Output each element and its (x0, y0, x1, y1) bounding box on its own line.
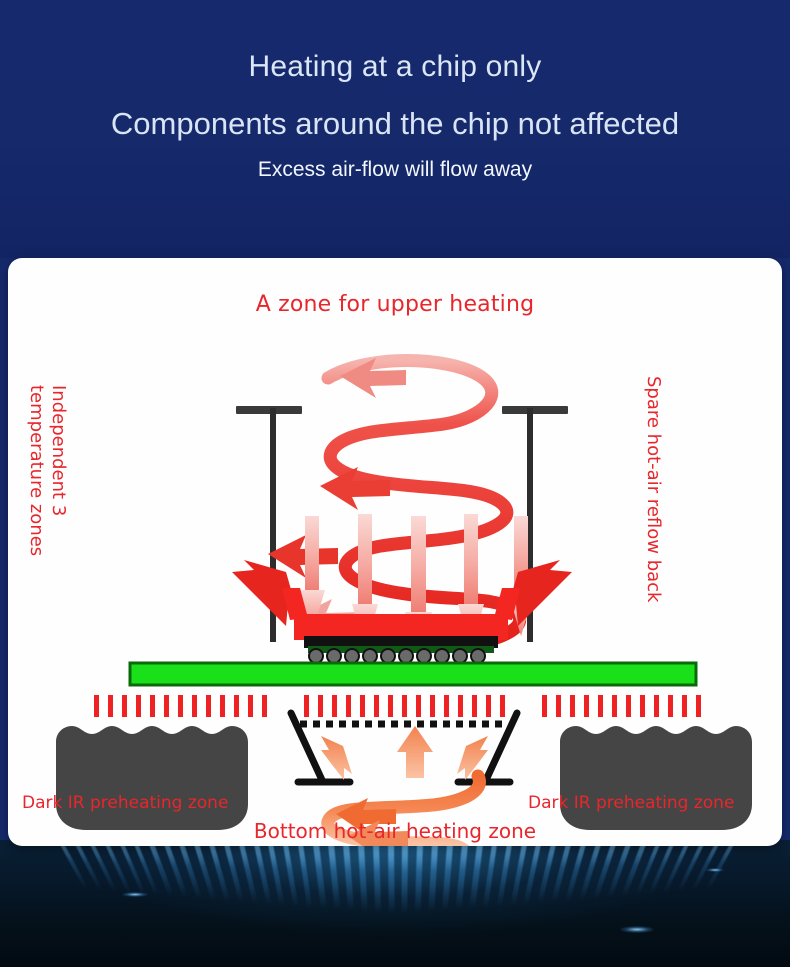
light-ray (442, 844, 453, 911)
light-ray (428, 844, 438, 912)
hero-text-stack: Heating at a chip only Components around… (0, 0, 790, 258)
label-left-line1: Independent 3 (47, 385, 69, 635)
light-ray (469, 844, 482, 910)
light-ray (75, 843, 102, 891)
label-upper-heating-zone: A zone for upper heating (8, 292, 782, 317)
hero-banner: Heating at a chip only Components around… (0, 0, 790, 258)
headline-tertiary: Excess air-flow will flow away (258, 157, 532, 182)
ir-tick-group-center (304, 695, 505, 717)
light-ray (268, 844, 285, 907)
ir-tick-group-right (542, 695, 701, 717)
ir-emitter-ticks (94, 695, 701, 717)
light-ray (313, 844, 326, 910)
light-ray (496, 844, 512, 908)
light-ray (283, 844, 299, 908)
light-ray (415, 844, 423, 913)
lens-spark-left (122, 892, 148, 897)
light-ray (388, 844, 395, 914)
reflow-diagram-svg (8, 258, 782, 846)
ir-tick-group-left (94, 695, 267, 717)
light-ray (60, 843, 88, 890)
dark-ir-preheater-right (560, 726, 752, 830)
light-ray (343, 844, 354, 911)
light-ray (402, 844, 409, 914)
label-right-line1: Spare hot-air reflow (643, 376, 664, 554)
headline-primary: Heating at a chip only (249, 50, 542, 84)
label-spare-hot-air-reflow: Spare hot-air reflow back (642, 376, 664, 626)
dark-ir-preheater-left (56, 726, 248, 830)
stage-glow-panel (0, 840, 790, 967)
light-ray (706, 843, 734, 890)
label-left-line2: temperature zones (25, 385, 47, 635)
lens-spark-right (620, 926, 654, 933)
label-dark-ir-preheating-right: Dark IR preheating zone (528, 793, 734, 813)
label-independent-temperature-zones: Independent 3 temperature zones (25, 385, 69, 635)
light-ray (358, 844, 368, 912)
light-ray (455, 844, 467, 910)
pcb-board (130, 663, 696, 685)
light-ray (373, 844, 381, 913)
lens-spark-far-right (706, 868, 724, 872)
page-root: Heating at a chip only Components around… (0, 0, 790, 967)
light-ray (298, 844, 313, 909)
light-ray (483, 844, 498, 909)
diagram-card: A zone for upper heating Independent 3 t… (8, 258, 782, 846)
label-right-line2: back (643, 560, 664, 603)
light-ray (328, 844, 340, 910)
headline-secondary: Components around the chip not affected (111, 106, 679, 141)
label-bottom-hot-air-heating-zone: Bottom hot-air heating zone (8, 819, 782, 843)
label-dark-ir-preheating-left: Dark IR preheating zone (22, 793, 228, 813)
bottom-upward-arrows (321, 726, 488, 780)
